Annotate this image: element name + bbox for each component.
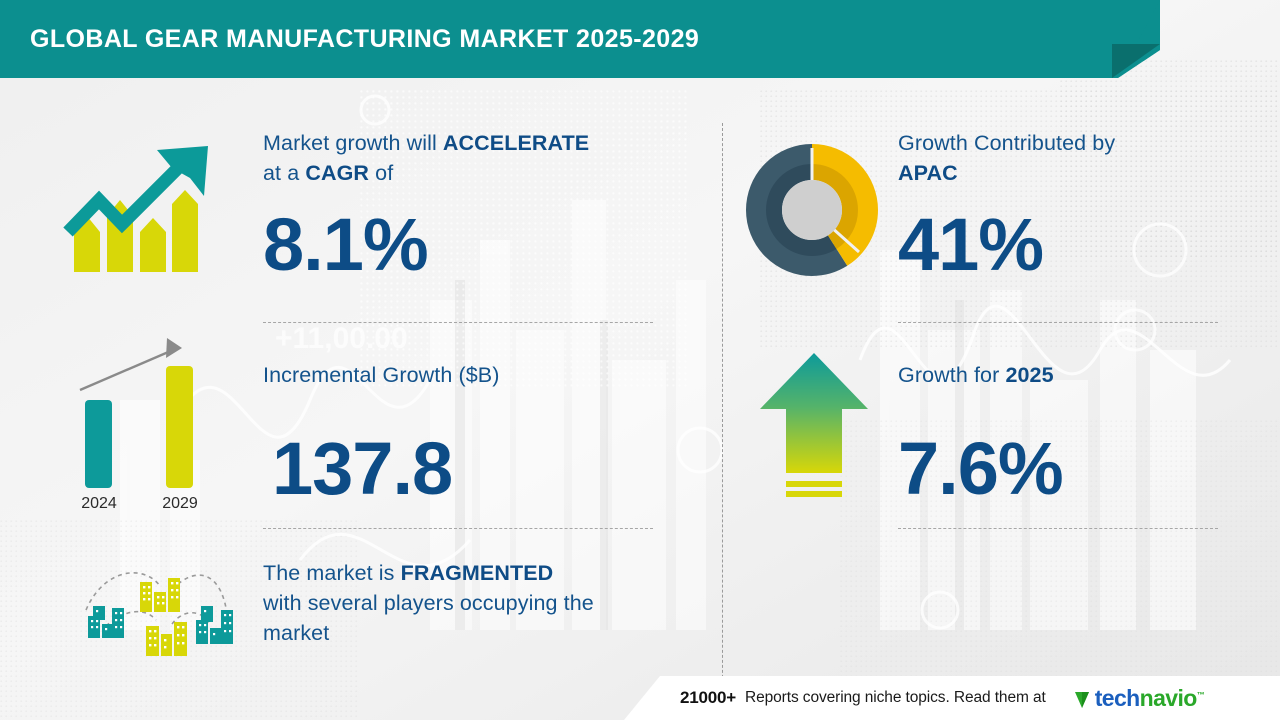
bar-label-2029: 2029: [162, 495, 198, 512]
fragmentation-line1-strong: FRAGMENTED: [401, 561, 554, 585]
donut-chart-icon: [742, 140, 882, 280]
footer-bar: 21000+ Reports covering niche topics. Re…: [0, 676, 1280, 720]
page-title: GLOBAL GEAR MANUFACTURING MARKET 2025-20…: [30, 0, 699, 78]
apac-label-pre: Growth Contributed by: [898, 131, 1115, 155]
fragmentation-line1-pre: The market is: [263, 561, 401, 585]
city-cluster-right: [196, 606, 233, 644]
fragmentation-line2: with several players occupying the: [263, 591, 594, 615]
right-divider-1: [898, 322, 1218, 323]
footer-content: 21000+ Reports covering niche topics. Re…: [680, 676, 1204, 720]
growth-2025-label-strong: 2025: [1005, 363, 1053, 387]
logo-trademark: ™: [1197, 690, 1204, 699]
bar-2024: [85, 400, 112, 488]
growth-arrow-wrap: [756, 343, 876, 513]
technavio-mark-icon: [1073, 686, 1095, 710]
right-divider-2: [898, 528, 1218, 529]
cagr-line1-pre: Market growth will: [263, 131, 443, 155]
left-column: Market growth will ACCELERATE at a CAGR …: [0, 78, 722, 678]
left-divider-1: [263, 322, 653, 323]
apac-value: 41%: [898, 206, 1043, 284]
cagr-line2-strong: CAGR: [305, 161, 369, 185]
city-cluster-left: [88, 606, 124, 638]
technavio-logo[interactable]: technavio™: [1073, 686, 1204, 710]
infographic-body: Market growth will ACCELERATE at a CAGR …: [0, 78, 1280, 678]
report-count: 21000+: [680, 688, 736, 708]
apac-label-strong: APAC: [898, 161, 958, 185]
column-divider: [722, 123, 723, 703]
cagr-line2-post: of: [369, 161, 393, 185]
fragmentation-text: The market is FRAGMENTED with several pl…: [263, 558, 693, 648]
two-bar-growth-chart-icon: 2024 2029: [68, 336, 238, 521]
growth-2025-label: Growth for 2025: [898, 360, 1228, 390]
left-divider-2: [263, 528, 653, 529]
cagr-line2-pre: at a: [263, 161, 305, 185]
city-cluster-bottom: [146, 622, 187, 656]
header-bar: GLOBAL GEAR MANUFACTURING MARKET 2025-20…: [0, 0, 1280, 78]
incremental-icon-wrap: 2024 2029: [68, 336, 238, 521]
apac-donut-wrap: [742, 140, 882, 280]
incremental-label: Incremental Growth ($B): [263, 360, 663, 390]
incremental-value: 137.8: [272, 430, 452, 508]
footer-text: Reports covering niche topics. Read them…: [745, 689, 1046, 707]
fragmentation-icon-wrap: [60, 558, 250, 668]
cagr-lead-text: Market growth will ACCELERATE at a CAGR …: [263, 128, 663, 188]
fragmentation-line3: market: [263, 621, 329, 645]
cagr-icon-wrap: [60, 128, 240, 288]
connected-cities-icon: [60, 558, 250, 668]
cagr-value: 8.1%: [263, 206, 428, 284]
city-cluster-top: [140, 578, 180, 612]
logo-text-tech: tech: [1095, 685, 1140, 711]
growth-2025-value: 7.6%: [898, 430, 1063, 508]
right-column: Growth Contributed by APAC 41%: [722, 78, 1280, 678]
bar-label-2024: 2024: [81, 495, 117, 512]
growth-arrow-bar-chart-icon: [60, 128, 240, 288]
cagr-line1-strong: ACCELERATE: [443, 131, 589, 155]
growth-2025-label-pre: Growth for: [898, 363, 1005, 387]
up-arrow-icon: [756, 343, 876, 513]
logo-text-navio: navio: [1140, 685, 1197, 711]
apac-label: Growth Contributed by APAC: [898, 128, 1228, 188]
bar-2029: [166, 366, 193, 488]
donut-center: [782, 180, 842, 240]
